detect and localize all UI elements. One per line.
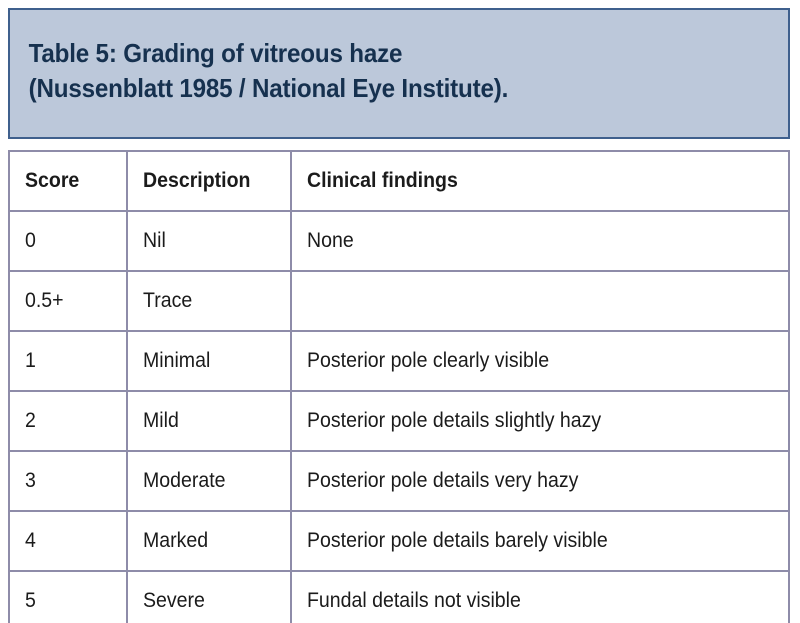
table-header: Score Description Clinical findings	[9, 151, 789, 211]
cell-findings	[291, 271, 789, 331]
cell-description-value: Minimal	[143, 349, 210, 372]
column-header-clinical-findings-label: Clinical findings	[307, 169, 458, 192]
table-figure: Table 5: Grading of vitreous haze (Nusse…	[0, 0, 800, 623]
cell-score-value: 2	[25, 409, 36, 432]
cell-score: 5	[9, 571, 127, 623]
table-row: 0 Nil None	[9, 211, 789, 271]
cell-findings: None	[291, 211, 789, 271]
cell-findings-value: Posterior pole details barely visible	[307, 529, 608, 552]
cell-score-value: 5	[25, 589, 36, 612]
table-header-row: Score Description Clinical findings	[9, 151, 789, 211]
table-row: 1 Minimal Posterior pole clearly visible	[9, 331, 789, 391]
cell-findings-value: Posterior pole details slightly hazy	[307, 409, 601, 432]
cell-description-value: Nil	[143, 229, 166, 252]
cell-score-value: 3	[25, 469, 36, 492]
table-row: 5 Severe Fundal details not visible	[9, 571, 789, 623]
cell-findings: Posterior pole details slightly hazy	[291, 391, 789, 451]
cell-findings: Posterior pole clearly visible	[291, 331, 789, 391]
column-header-description-label: Description	[143, 169, 250, 192]
cell-description: Moderate	[127, 451, 291, 511]
cell-findings-value: Fundal details not visible	[307, 589, 521, 612]
cell-description-value: Severe	[143, 589, 205, 612]
cell-findings-value: Posterior pole clearly visible	[307, 349, 549, 372]
cell-description: Minimal	[127, 331, 291, 391]
cell-description-value: Marked	[143, 529, 208, 552]
vitreous-haze-grading-table: Score Description Clinical findings 0 Ni…	[8, 150, 790, 623]
cell-score: 3	[9, 451, 127, 511]
cell-score: 0	[9, 211, 127, 271]
cell-findings: Posterior pole details very hazy	[291, 451, 789, 511]
cell-findings-value: None	[307, 229, 354, 252]
cell-findings: Fundal details not visible	[291, 571, 789, 623]
cell-description: Marked	[127, 511, 291, 571]
cell-score: 2	[9, 391, 127, 451]
cell-score-value: 0	[25, 229, 36, 252]
cell-description: Mild	[127, 391, 291, 451]
cell-score-value: 4	[25, 529, 36, 552]
cell-findings-value: Posterior pole details very hazy	[307, 469, 578, 492]
cell-description: Severe	[127, 571, 291, 623]
cell-score: 4	[9, 511, 127, 571]
cell-score: 1	[9, 331, 127, 391]
cell-description: Nil	[127, 211, 291, 271]
table-row: 0.5+ Trace	[9, 271, 789, 331]
cell-findings: Posterior pole details barely visible	[291, 511, 789, 571]
cell-score-value: 0.5+	[25, 289, 64, 312]
cell-score-value: 1	[25, 349, 36, 372]
table-caption-text: Table 5: Grading of vitreous haze (Nusse…	[10, 36, 508, 111]
column-header-score-label: Score	[25, 169, 79, 192]
table-row: 2 Mild Posterior pole details slightly h…	[9, 391, 789, 451]
cell-description-value: Moderate	[143, 469, 226, 492]
table-row: 3 Moderate Posterior pole details very h…	[9, 451, 789, 511]
cell-description: Trace	[127, 271, 291, 331]
table-body: 0 Nil None 0.5+ Trace 1 Minimal Posterio…	[9, 211, 789, 623]
cell-description-value: Mild	[143, 409, 179, 432]
cell-score: 0.5+	[9, 271, 127, 331]
table-caption-band: Table 5: Grading of vitreous haze (Nusse…	[8, 8, 790, 139]
column-header-description: Description	[127, 151, 291, 211]
column-header-score: Score	[9, 151, 127, 211]
column-header-clinical-findings: Clinical findings	[291, 151, 789, 211]
table-row: 4 Marked Posterior pole details barely v…	[9, 511, 789, 571]
cell-description-value: Trace	[143, 289, 192, 312]
